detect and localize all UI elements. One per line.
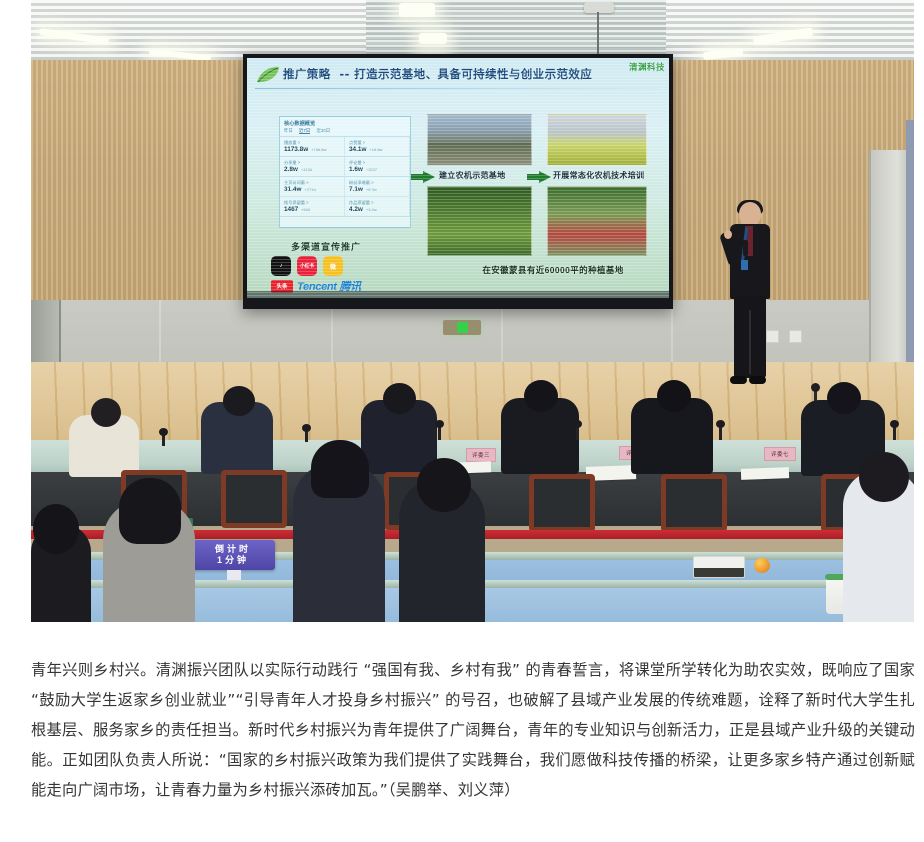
desk-microphone (162, 432, 165, 446)
audience-head-front (311, 440, 369, 498)
slide-brand-logo: 清渊科技 (629, 61, 665, 73)
arrow-right-icon: → (469, 323, 478, 332)
article-photo: 推广策略 -- 打造示范基地、具备可持续性与创业示范效应 清渊科技 核心数据概览… (31, 0, 914, 622)
article-page: 推广策略 -- 打造示范基地、具备可持续性与创业示范效应 清渊科技 核心数据概览… (0, 0, 924, 842)
metric-cell: 点赞量 > 34.1w+19.8w (345, 137, 410, 157)
metric-value: 2.8w (284, 166, 298, 173)
slide-dashboard-card: 核心数据概览 昨日 近7日 近30日 播放量 > 1173.8w+756.8w … (279, 116, 411, 228)
presenter-hand (724, 230, 732, 239)
chair (661, 474, 727, 532)
dashboard-tab[interactable]: 昨日 (284, 128, 293, 133)
presenter-badge (741, 260, 748, 270)
flow-arrow-icon (539, 171, 551, 183)
wall-outlet (789, 330, 802, 343)
arrow-left-icon: ← (447, 323, 456, 332)
audience-head-front (417, 458, 471, 512)
chair (221, 470, 287, 528)
audience-head (657, 380, 691, 412)
judge-namecard: 评委三 (466, 448, 496, 462)
slide-footer-caption: 在安徽蒙县有近60000平的种植基地 (443, 264, 663, 276)
metric-delta: +6.3w (366, 187, 377, 192)
exit-sign: ← → (443, 320, 481, 335)
judge-namecard: 评委七 (764, 447, 796, 461)
window-strip (906, 120, 914, 400)
countdown-line1: 倒计时 (215, 544, 251, 555)
lecture-hall-scene: 推广策略 -- 打造示范基地、具备可持续性与创业示范效应 清渊科技 核心数据概览… (31, 0, 914, 622)
presenter (726, 202, 774, 392)
dashboard-tab[interactable]: 近30日 (317, 128, 331, 133)
audience-head (383, 383, 416, 414)
metric-value: 7.1w (349, 186, 363, 193)
metric-value: 1467 (284, 206, 298, 213)
metric-cell: 分享量 > 2.8w+4156 (280, 157, 345, 177)
presentation-screen[interactable]: 推广策略 -- 打造示范基地、具备可持续性与创业示范效应 清渊科技 核心数据概览… (247, 58, 669, 298)
metric-cell: 粉丝净增量 > 7.1w+6.3w (345, 177, 410, 197)
metric-cell: 作品停留量 > 4.2w+3.2w (345, 197, 410, 217)
handheld-microphone (743, 240, 748, 256)
metric-delta: +271w (304, 187, 316, 192)
metric-cell: 帐号停留量 > 1467+500 (280, 197, 345, 217)
metric-delta: +3937 (366, 167, 377, 172)
food-container (693, 556, 745, 578)
slide-photo-greenhouse (427, 114, 532, 166)
weibo-logo-icon: 微 (323, 256, 343, 276)
slide-photo-training-indoor (547, 114, 647, 166)
flow-arrow-icon (423, 171, 435, 183)
slide-photo-field (427, 186, 532, 256)
dashboard-tab[interactable]: 近7日 (299, 128, 310, 134)
metric-value: 4.2w (349, 206, 363, 213)
countdown-sign: 倒计时 1分钟 (191, 540, 275, 570)
desk-microphone (893, 424, 896, 440)
metric-cell: 播放量 > 1173.8w+756.8w (280, 137, 345, 157)
slide-photo-people (547, 186, 647, 256)
article-body: 青年兴则乡村兴。清渊振兴团队以实际行动践行 “强国有我、乡村有我” 的青春誓言，… (31, 655, 915, 805)
ceiling-lamp (399, 3, 435, 17)
screen-taskbar (247, 291, 669, 298)
desk-microphone (305, 428, 308, 442)
audience-head (91, 398, 121, 427)
audience-head-front (119, 478, 181, 544)
judge-papers (741, 467, 789, 480)
metric-value: 34.1w (349, 146, 366, 153)
desk-microphone (576, 424, 579, 440)
flow-step-label: 建立农机示范基地 (439, 170, 505, 181)
xiaohongshu-logo-icon: 小红书 (297, 256, 317, 276)
chair (529, 474, 595, 532)
presenter-shoe (730, 376, 747, 384)
slide-divider (255, 88, 661, 89)
audience-head (223, 386, 255, 416)
presenter-leg-seam (749, 310, 751, 374)
slide-title: 推广策略 -- 打造示范基地、具备可持续性与创业示范效应 (283, 66, 653, 82)
dashboard-tabs[interactable]: 昨日 近7日 近30日 (280, 127, 410, 136)
channel-logos-row1: ♪ 小红书 微 (271, 256, 343, 276)
metric-cell: 主页访问量 > 31.4w+271w (280, 177, 345, 197)
metric-value: 1.6w (349, 166, 363, 173)
desk-microphone (719, 424, 722, 440)
flow-arrow-tail (527, 174, 539, 180)
desk-microphone (438, 424, 441, 440)
promo-title: 多渠道宣传推广 (291, 240, 361, 253)
projector (584, 2, 614, 13)
audience-head-front (33, 504, 79, 554)
metric-value: 31.4w (284, 186, 301, 193)
leaf-icon (255, 65, 281, 85)
metric-delta: +500 (301, 207, 310, 212)
orange-fruit (754, 558, 770, 573)
metric-delta: +19.8w (369, 147, 382, 152)
metric-cell: 评论量 > 1.6w+3937 (345, 157, 410, 177)
presenter-head (739, 202, 761, 226)
audience-head (524, 380, 558, 412)
metric-value: 1173.8w (284, 146, 308, 153)
ceiling-lamp (419, 33, 447, 44)
metric-delta: +756.8w (311, 147, 326, 152)
metric-delta: +3.2w (366, 207, 377, 212)
flow-step-label: 开展常态化农机技术培训 (553, 170, 644, 181)
countdown-sign-stand (227, 570, 241, 580)
countdown-line2: 1分钟 (217, 555, 249, 566)
flow-arrow-tail (411, 174, 423, 180)
audience-head (827, 382, 861, 414)
running-man-icon (457, 322, 468, 333)
metric-delta: +4156 (301, 167, 312, 172)
douyin-logo-icon: ♪ (271, 256, 291, 276)
dashboard-header: 核心数据概览 (280, 117, 410, 127)
audience-head-front (859, 452, 909, 502)
dashboard-metric-grid: 播放量 > 1173.8w+756.8w 点赞量 > 34.1w+19.8w 分… (280, 136, 410, 217)
presenter-shoe (749, 376, 766, 384)
